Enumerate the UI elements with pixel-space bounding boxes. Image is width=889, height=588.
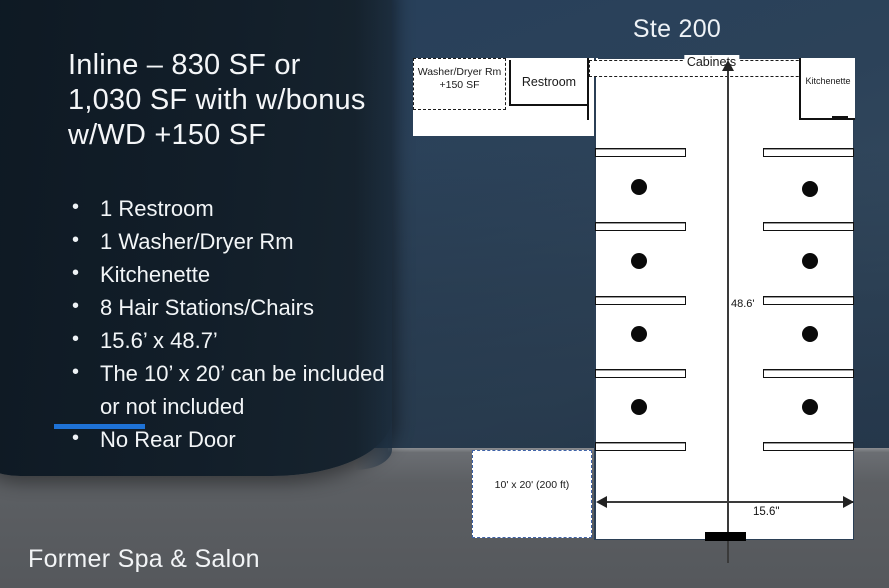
salon-chair <box>802 253 818 269</box>
salon-chair <box>802 399 818 415</box>
hair-station-counter <box>763 442 854 451</box>
list-item: Kitchenette <box>62 258 392 291</box>
plan-title: Ste 200 <box>560 15 794 44</box>
hair-station-counter <box>763 296 854 305</box>
salon-chair <box>631 179 647 195</box>
list-item: 1 Restroom <box>62 192 392 225</box>
slide-canvas: Inline – 830 SF or 1,030 SF with w/bonus… <box>0 0 889 588</box>
list-item: 8 Hair Stations/Chairs <box>62 291 392 324</box>
dimension-arrow-up-icon <box>722 60 734 71</box>
dimension-label-vertical: 48.6' <box>731 298 755 310</box>
salon-chair <box>802 326 818 342</box>
kitchenette-counter-tick-right <box>832 116 848 118</box>
room-kitchenette: Kitchenette <box>799 58 855 120</box>
hair-station-counter <box>595 296 686 305</box>
dimension-line-vertical <box>727 63 729 563</box>
salon-chair <box>631 253 647 269</box>
room-restroom-label: Restroom <box>511 75 587 89</box>
hair-station-counter <box>595 148 686 157</box>
kitchenette-counter-tick-left <box>801 118 823 120</box>
hair-station-counter <box>595 369 686 378</box>
room-kitchenette-label: Kitchenette <box>801 76 855 86</box>
room-bonus-10x20: 10' x 20' (200 ft) <box>472 450 592 538</box>
list-item: 15.6’ x 48.7’ <box>62 324 392 357</box>
hair-station-counter <box>763 148 854 157</box>
hair-station-counter <box>763 369 854 378</box>
slide-caption: Former Spa & Salon <box>28 545 260 574</box>
room-bonus-label: 10' x 20' (200 ft) <box>473 478 591 492</box>
hair-station-counter <box>595 442 686 451</box>
list-item: The 10’ x 20’ can be included or not inc… <box>62 357 392 423</box>
page-title: Inline – 830 SF or 1,030 SF with w/bonus… <box>68 48 378 153</box>
salon-chair <box>631 326 647 342</box>
salon-chair <box>631 399 647 415</box>
room-cabinets: Cabinets <box>589 60 834 77</box>
dimension-arrow-right-icon <box>843 496 854 508</box>
room-washer-dryer-label: Washer/Dryer Rm +150 SF <box>414 66 505 92</box>
room-restroom: Restroom <box>509 60 587 106</box>
dimension-line-horizontal <box>598 501 853 503</box>
room-washer-dryer: Washer/Dryer Rm +150 SF <box>413 58 506 110</box>
feature-list: 1 Restroom 1 Washer/Dryer Rm Kitchenette… <box>62 192 392 456</box>
floor-plan: Washer/Dryer Rm +150 SF Restroom Cabinet… <box>413 58 854 540</box>
entry-door <box>705 532 746 541</box>
accent-underline <box>54 424 145 429</box>
dimension-arrow-left-icon <box>596 496 607 508</box>
dimension-label-horizontal: 15.6" <box>753 506 779 518</box>
list-item: 1 Washer/Dryer Rm <box>62 225 392 258</box>
hair-station-counter <box>763 222 854 231</box>
hair-station-counter <box>595 222 686 231</box>
salon-chair <box>802 181 818 197</box>
